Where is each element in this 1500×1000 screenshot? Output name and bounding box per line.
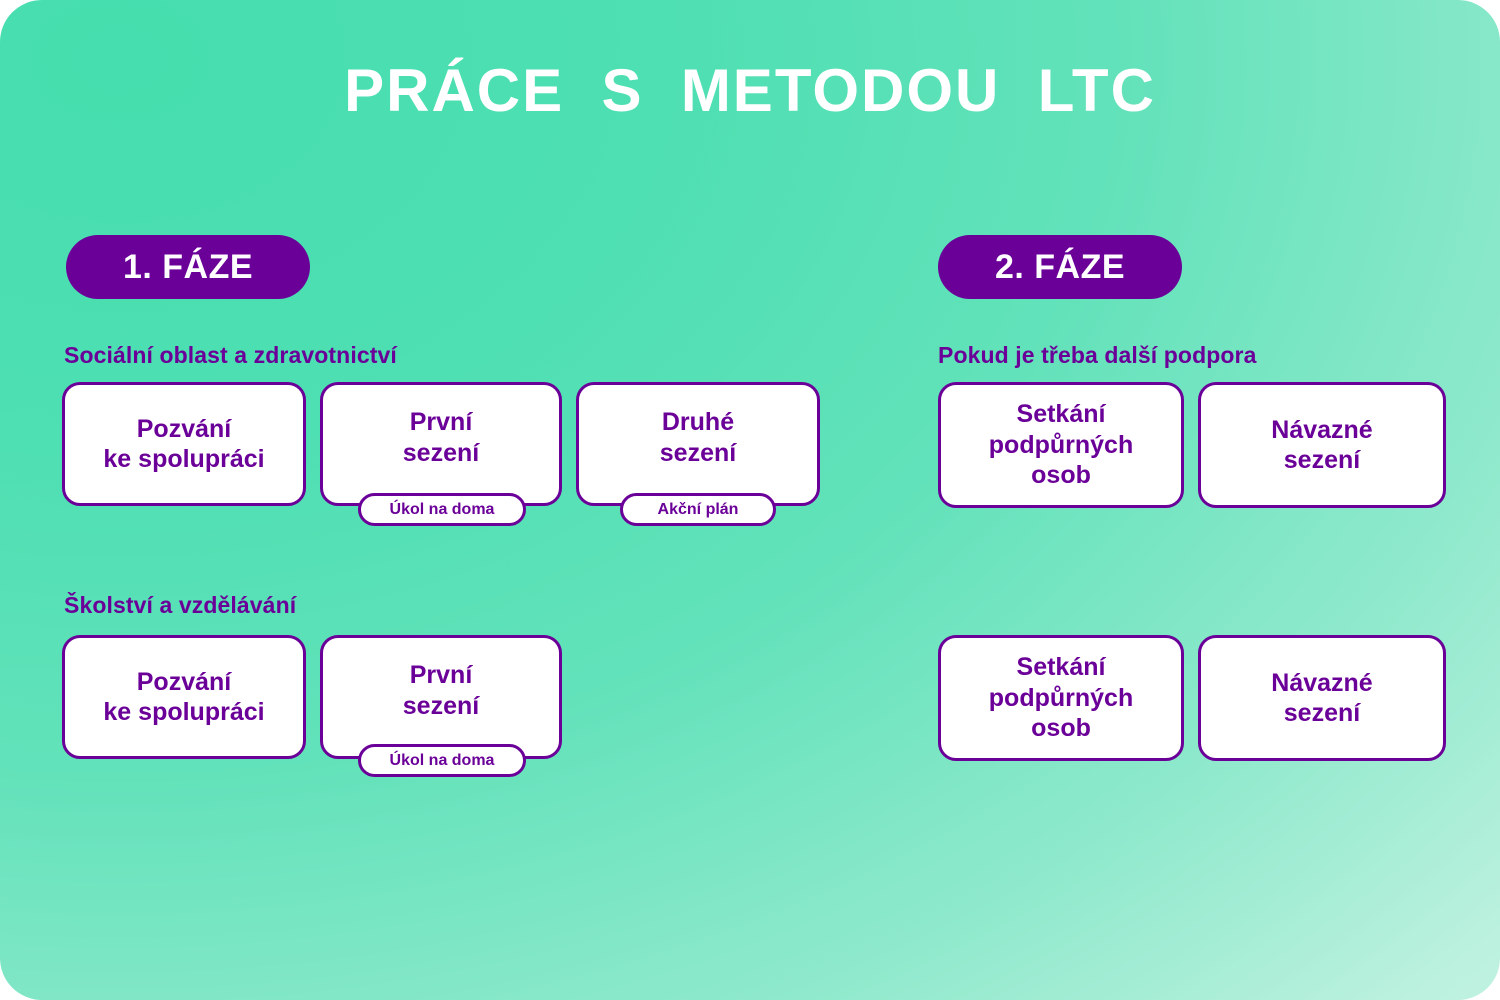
phase-badge-1[interactable]: 1. FÁZE [66, 235, 310, 299]
pill-akcni-plan-social[interactable]: Akční plán [620, 493, 776, 526]
card-setkani-podpurnych-osob-row1[interactable]: Setkání podpůrných osob [938, 382, 1184, 508]
card-navazne-sezeni-row2[interactable]: Návazné sezení [1198, 635, 1446, 761]
card-label: Setkání podpůrných osob [941, 399, 1181, 491]
card-label: Návazné sezení [1201, 415, 1443, 476]
page-title: PRÁCE S METODOU LTC [0, 58, 1500, 124]
card-pozvani-ke-spolupraci-education[interactable]: Pozvání ke spolupráci [62, 635, 306, 759]
card-label: Setkání podpůrných osob [941, 652, 1181, 744]
card-setkani-podpurnych-osob-row2[interactable]: Setkání podpůrných osob [938, 635, 1184, 761]
card-label: Druhé sezení [579, 407, 817, 468]
pill-ukol-na-doma-education[interactable]: Úkol na doma [358, 744, 526, 777]
card-druhe-sezeni-social[interactable]: Druhé sezení [576, 382, 820, 506]
card-label: První sezení [323, 407, 559, 468]
card-prvni-sezeni-education[interactable]: První sezení [320, 635, 562, 759]
phase-badge-2[interactable]: 2. FÁZE [938, 235, 1182, 299]
card-label: Pozvání ke spolupráci [65, 667, 303, 728]
section-heading-social-health: Sociální oblast a zdravotnictví [64, 342, 397, 369]
card-label: První sezení [323, 660, 559, 721]
card-pozvani-ke-spolupraci-social[interactable]: Pozvání ke spolupráci [62, 382, 306, 506]
card-label: Návazné sezení [1201, 668, 1443, 729]
section-heading-further-support: Pokud je třeba další podpora [938, 342, 1256, 369]
poster-canvas: PRÁCE S METODOU LTC 1. FÁZE Sociální obl… [0, 0, 1500, 1000]
card-prvni-sezeni-social[interactable]: První sezení [320, 382, 562, 506]
card-navazne-sezeni-row1[interactable]: Návazné sezení [1198, 382, 1446, 508]
card-label: Pozvání ke spolupráci [65, 414, 303, 475]
section-heading-education: Školství a vzdělávání [64, 592, 296, 619]
pill-ukol-na-doma-social[interactable]: Úkol na doma [358, 493, 526, 526]
